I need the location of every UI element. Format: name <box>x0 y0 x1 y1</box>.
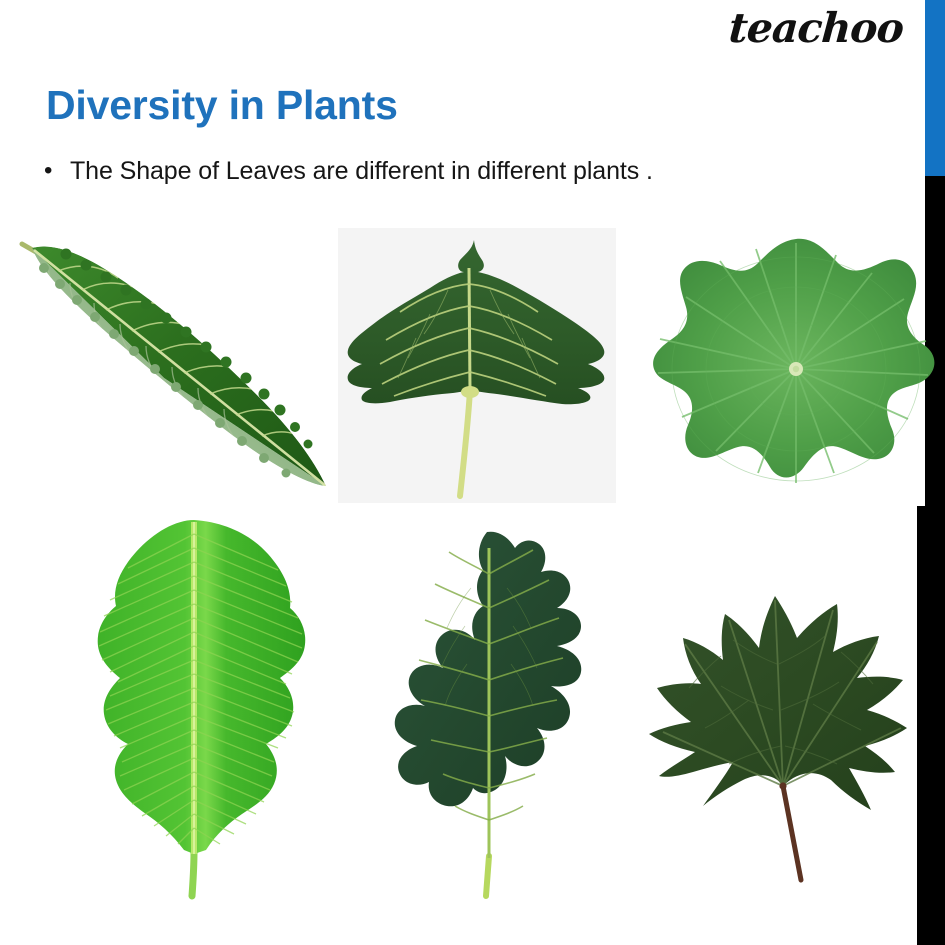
bullet-text: The Shape of Leaves are different in dif… <box>70 154 653 188</box>
bullet-marker-icon: • <box>44 154 70 188</box>
right-edge-blue-bar <box>925 0 945 176</box>
leaf-image-banana <box>66 512 328 900</box>
leaf-image-peepal <box>338 228 616 503</box>
leaf-image-maple <box>633 524 925 902</box>
slide-canvas: teachoo Diversity in Plants • The Shape … <box>0 0 945 945</box>
page-title: Diversity in Plants <box>46 84 398 127</box>
leaf-image-oak <box>383 522 607 904</box>
leaf-image-lotus <box>650 233 942 508</box>
bullet-list-item: • The Shape of Leaves are different in d… <box>44 154 653 188</box>
leaf-image-lanceolate <box>14 228 339 508</box>
teachoo-logo: teachoo <box>728 8 905 49</box>
